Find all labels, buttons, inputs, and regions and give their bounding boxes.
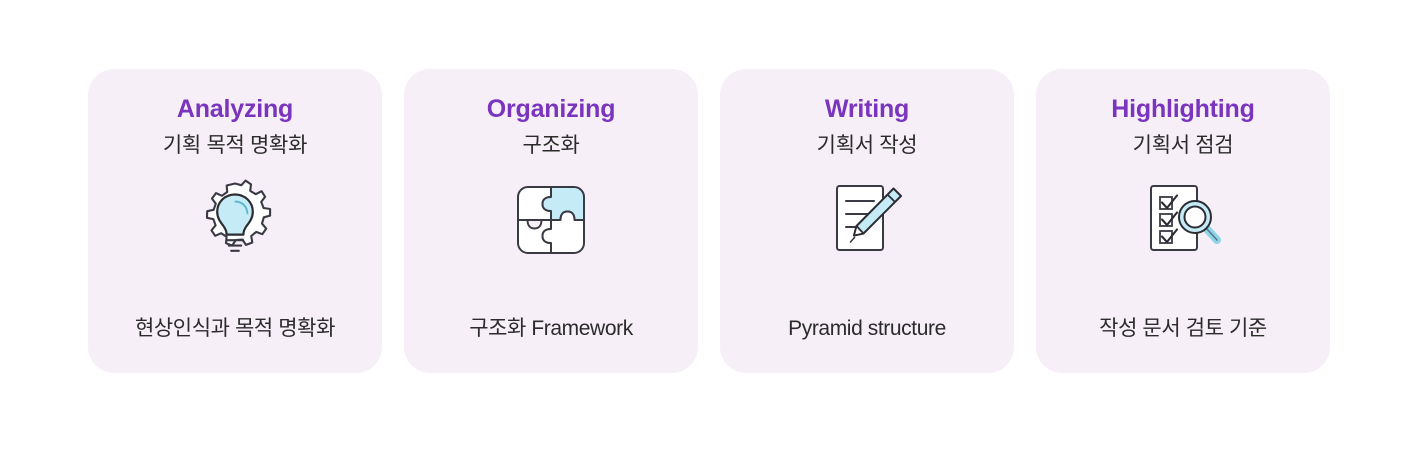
- step-card-organizing[interactable]: Organizing 구조화 구조화 Framework: [404, 69, 698, 373]
- card-subtitle: 구조화: [522, 133, 579, 158]
- card-title: Writing: [825, 95, 909, 124]
- puzzle-pieces-icon: [501, 174, 601, 266]
- process-steps-infographic: Analyzing 기획 목적 명확화 현상인식과 목적 명확화: [0, 0, 1424, 453]
- checklist-magnifier-icon: [1133, 174, 1233, 266]
- card-caption: 작성 문서 검토 기준: [1036, 316, 1330, 341]
- card-caption: 현상인식과 목적 명확화: [88, 316, 382, 341]
- document-pencil-icon: [817, 174, 917, 266]
- card-caption: 구조화 Framework: [404, 316, 698, 341]
- card-title: Organizing: [487, 95, 616, 124]
- card-caption: Pyramid structure: [720, 316, 1014, 341]
- card-title: Highlighting: [1111, 95, 1254, 124]
- step-card-writing[interactable]: Writing 기획서 작성: [720, 69, 1014, 373]
- gear-lightbulb-icon: [185, 174, 285, 266]
- step-card-analyzing[interactable]: Analyzing 기획 목적 명확화 현상인식과 목적 명확화: [88, 69, 382, 373]
- card-subtitle: 기획서 작성: [817, 133, 918, 158]
- card-title: Analyzing: [177, 95, 293, 124]
- card-row: Analyzing 기획 목적 명확화 현상인식과 목적 명확화: [88, 69, 1338, 373]
- card-subtitle: 기획서 점검: [1133, 133, 1234, 158]
- step-card-highlighting[interactable]: Highlighting 기획서 점검: [1036, 69, 1330, 373]
- card-subtitle: 기획 목적 명확화: [163, 133, 307, 158]
